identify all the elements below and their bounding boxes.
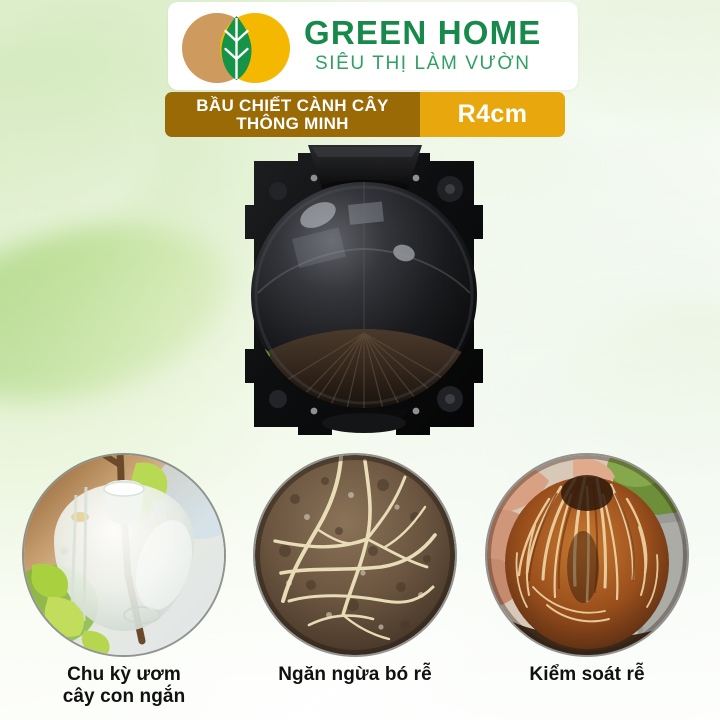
feature-caption: Kiểm soát rễ xyxy=(477,664,697,686)
feature-item: Ngăn ngừa bó rễ xyxy=(245,455,465,686)
feature-photo-white-ball xyxy=(24,455,224,655)
product-infographic: GREEN HOME SIÊU THỊ LÀM VƯỜN BẦU CHIẾT C… xyxy=(0,0,720,720)
hinge-pin xyxy=(413,175,420,182)
hero-product-image xyxy=(236,143,492,445)
feature-item: Chu kỳ ươm cây con ngắn xyxy=(14,455,234,709)
title-banner: BẦU CHIẾT CÀNH CÂYTHÔNG MINH R4cm xyxy=(165,92,565,137)
base-tab-face xyxy=(322,413,406,433)
funnel-rim xyxy=(312,147,418,157)
brand-tagline: SIÊU THỊ LÀM VƯỜN xyxy=(304,52,542,76)
frame-boss-center xyxy=(445,394,455,404)
frame-boss-center xyxy=(445,184,455,194)
size-badge-label: R4cm xyxy=(458,100,528,129)
frame-boss xyxy=(269,182,287,200)
brand-text: GREEN HOME SIÊU THỊ LÀM VƯỜN xyxy=(304,16,542,75)
feature-caption-line1: Chu kỳ ươm xyxy=(67,664,181,685)
feature-item: Kiểm soát rễ xyxy=(477,455,697,686)
sphere-reflection xyxy=(348,201,384,224)
product-title-line1: BẦU CHIẾT CÀNH CÂY xyxy=(196,97,388,115)
logo-mark xyxy=(172,6,300,86)
feature-caption: Ngăn ngừa bó rễ xyxy=(245,664,465,686)
product-title-line2: THÔNG MINH xyxy=(196,115,388,133)
feature-caption: Chu kỳ ươm cây con ngắn xyxy=(14,664,234,709)
size-badge: R4cm xyxy=(420,92,565,137)
feature-photo-root-ball xyxy=(487,455,687,655)
hinge-pin xyxy=(311,408,318,415)
white-propagation-ball-photo xyxy=(24,455,224,655)
feature-photo-soil-roots xyxy=(255,455,455,655)
feature-row: Chu kỳ ươm cây con ngắn xyxy=(0,455,720,720)
feature-caption-line1: Kiểm soát rễ xyxy=(529,664,644,685)
feature-caption-line1: Ngăn ngừa bó rễ xyxy=(278,664,432,685)
brand-name: GREEN HOME xyxy=(304,16,542,50)
hinge-pin xyxy=(413,408,420,415)
brand-logo-card: GREEN HOME SIÊU THỊ LÀM VƯỜN xyxy=(168,2,578,90)
feature-caption-line2: cây con ngắn xyxy=(63,686,186,707)
frame-boss xyxy=(269,390,287,408)
hinge-pin xyxy=(311,175,318,182)
hand-holding-root-ball-photo xyxy=(487,455,687,655)
soil-ball-with-roots-photo xyxy=(255,455,455,655)
product-title-block: BẦU CHIẾT CÀNH CÂYTHÔNG MINH xyxy=(165,92,420,137)
propagation-ball-illustration xyxy=(236,143,492,445)
leaf-icon xyxy=(220,15,253,81)
